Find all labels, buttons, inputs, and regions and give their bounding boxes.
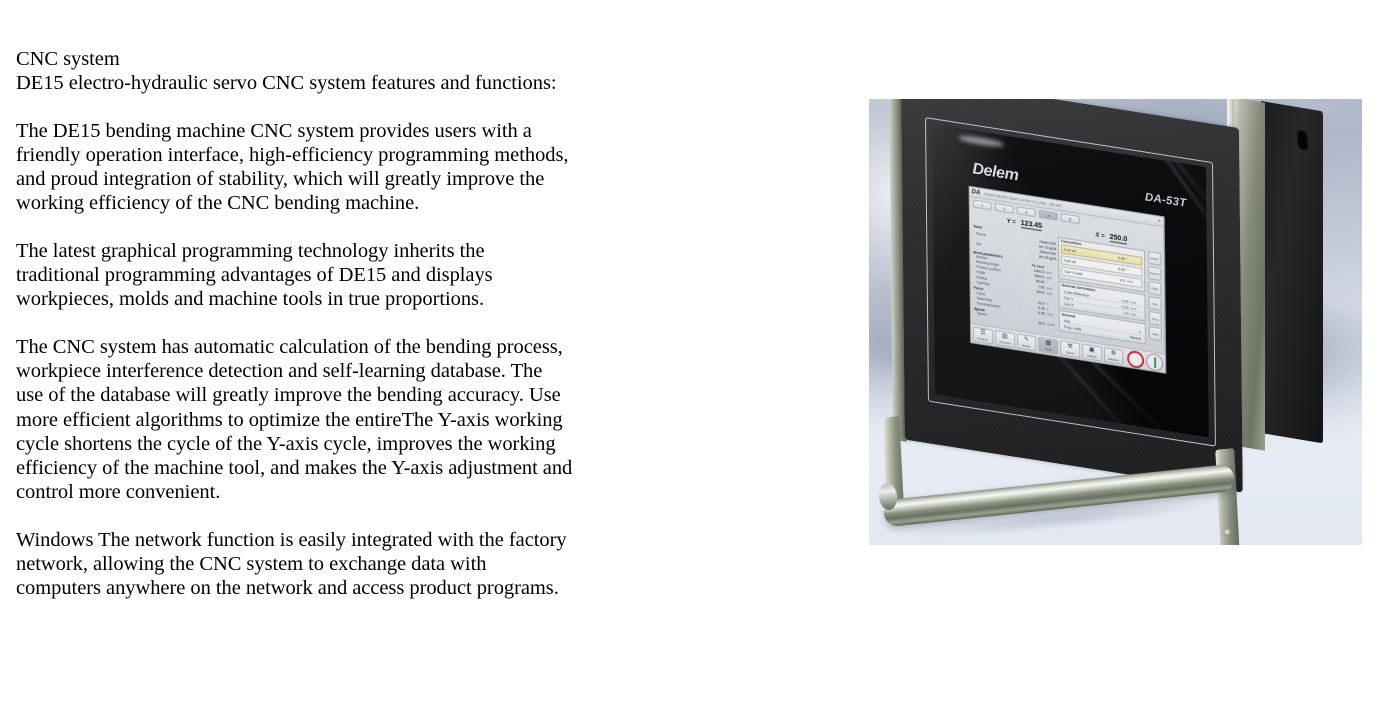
hmi-toolbar-button-machine[interactable]: ⚙ Machine	[1104, 346, 1124, 364]
hmi-side-button-column: Teach Search Data Del Prog Help	[1147, 251, 1163, 356]
article-heading-block: CNC system DE15 electro-hydraulic servo …	[16, 47, 846, 96]
hmi-tab-4[interactable]: 4	[1039, 210, 1058, 221]
hmi-toolbar-button-program[interactable]: ☰ Program	[973, 326, 993, 344]
stop-button[interactable]	[1127, 349, 1144, 369]
paragraph-3-line-1: The CNC system has automatic calculation…	[16, 335, 846, 359]
hmi-toolbar-button-tools[interactable]: ▦ Tools	[1038, 336, 1058, 354]
hmi-tab-2[interactable]: 2	[995, 203, 1014, 214]
paragraph-3-line-3: use of the database will greatly improve…	[16, 383, 846, 407]
hmi-parameter-column: Tools Punch : Delem 200 t/m 70 gr45 Die …	[972, 223, 1057, 338]
hmi-toolbar-label: Program	[978, 336, 989, 342]
model-label: DA-53T	[1145, 191, 1187, 210]
hmi-toolbar-label: Overview	[999, 339, 1011, 345]
bends-icon: ✎	[1024, 336, 1029, 343]
paragraph-3-line-2: workpiece interference detection and sel…	[16, 359, 846, 383]
cnc-controller-device: Delem DA-53T DA Delem DA-53T Touch Contr…	[869, 99, 1362, 545]
paragraph-3: The CNC system has automatic calculation…	[16, 335, 846, 505]
paragraph-4-line-1: Windows The network function is easily i…	[16, 528, 846, 552]
hmi-side-button-teach[interactable]: Teach	[1148, 251, 1161, 266]
paragraph-3-line-4: more efficient algorithms to optimize th…	[16, 408, 846, 432]
tools-icon: ▦	[1045, 339, 1051, 346]
hmi-logo: DA	[972, 189, 981, 196]
hmi-field-value: 0.0	[1101, 275, 1125, 283]
start-button[interactable]	[1146, 352, 1163, 372]
gear-icon: ⚙	[1111, 350, 1116, 357]
hmi-axis-x-label: X =	[1095, 233, 1104, 240]
brand-logo: Delem	[972, 160, 1018, 185]
hmi-tab-5[interactable]: 5	[1061, 213, 1080, 224]
paragraph-2: The latest graphical programming technol…	[16, 239, 846, 312]
hmi-field-value: 0.00	[1101, 264, 1125, 272]
glass-glint	[958, 134, 1004, 148]
device-touchscreen-glass: Delem DA-53T DA Delem DA-53T Touch Contr…	[932, 124, 1209, 437]
hmi-tab-1[interactable]: 1	[973, 199, 992, 210]
hmi-tab-3[interactable]: 3	[1017, 206, 1036, 217]
hmi-window[interactable]: DA Delem DA-53T Touch Control V1.2.8ex -…	[969, 186, 1167, 374]
hmi-toolbar-button-settings[interactable]: ▣ Settings	[1082, 343, 1102, 361]
paragraph-2-line-3: workpieces, molds and machine tools in t…	[16, 287, 846, 311]
hmi-field-value: 0.00	[1101, 253, 1125, 261]
hmi-field-name: Corr X-axis	[1064, 269, 1101, 279]
hmi-side-button-data[interactable]: Data	[1148, 281, 1161, 296]
paragraph-4: Windows The network function is easily i…	[16, 528, 846, 601]
hmi-param-unit: mm/s	[1045, 322, 1057, 329]
heading-line-1: CNC system	[16, 47, 846, 71]
paragraph-2-line-1: The latest graphical programming technol…	[16, 239, 846, 263]
paragraph-1-line-4: working efficiency of the CNC bending ma…	[16, 191, 846, 215]
mount-icon: ⚒	[1067, 343, 1072, 350]
close-icon[interactable]: ×	[1158, 218, 1162, 225]
hmi-side-button-prog[interactable]: Prog	[1149, 311, 1162, 326]
hmi-toolbar-label: Tools	[1045, 346, 1052, 351]
hmi-side-button-del[interactable]: Del	[1148, 296, 1161, 311]
start-bar-icon	[1154, 356, 1156, 367]
paragraph-3-line-6: efficiency of the machine tool, and make…	[16, 456, 846, 480]
hmi-field-name: Corr a1	[1064, 247, 1101, 257]
paragraph-4-line-2: network, allowing the CNC system to exch…	[16, 552, 846, 576]
hmi-side-button-search[interactable]: Search	[1148, 266, 1161, 281]
hmi-side-button-help[interactable]: Help	[1149, 326, 1162, 341]
overview-icon: ▤	[1002, 332, 1008, 339]
paragraph-2-line-2: traditional programming advantages of DE…	[16, 263, 846, 287]
hmi-corrections-column: Corrections Corr a1 0.00 ° Corr a2 0.00 …	[1058, 237, 1146, 353]
hmi-toolbar-button-mount[interactable]: ⚒ Mount	[1060, 340, 1080, 358]
paragraph-3-line-5: cycle shortens the cycle of the Y-axis c…	[16, 432, 846, 456]
hmi-field-unit: °	[1125, 257, 1139, 263]
hmi-toolbar-label: Settings	[1087, 353, 1097, 359]
article-text-column: CNC system DE15 electro-hydraulic servo …	[16, 47, 846, 601]
page-root: CNC system DE15 electro-hydraulic servo …	[0, 0, 1377, 714]
hmi-toolbar-label: Bends	[1023, 343, 1031, 348]
hmi-toolbar-label: Mount	[1066, 350, 1074, 355]
hmi-field-name: Corr a2	[1064, 258, 1101, 268]
heading-line-2: DE15 electro-hydraulic servo CNC system …	[16, 71, 846, 95]
hmi-toolbar-label: Machine	[1108, 356, 1119, 362]
paragraph-1-line-2: friendly operation interface, high-effic…	[16, 143, 846, 167]
program-icon: ☰	[980, 329, 985, 336]
hmi-param-unit	[1044, 268, 1056, 270]
hmi-field-unit: °	[1125, 268, 1139, 274]
paragraph-1-line-3: and proud integration of stability, whic…	[16, 167, 846, 191]
hmi-row-unit: mm	[1129, 311, 1141, 317]
hmi-field-unit: mm	[1125, 279, 1139, 285]
paragraph-1-line-1: The DE15 bending machine CNC system prov…	[16, 119, 846, 143]
product-photo: Delem DA-53T DA Delem DA-53T Touch Contr…	[869, 99, 1362, 545]
paragraph-1: The DE15 bending machine CNC system prov…	[16, 119, 846, 216]
paragraph-3-line-7: control more convenient.	[16, 480, 846, 504]
settings-icon: ▣	[1089, 346, 1095, 353]
hmi-toolbar-button-bends[interactable]: ✎ Bends	[1017, 333, 1037, 351]
hmi-axis-x-value[interactable]: 250.0	[1110, 234, 1128, 245]
stand-bracket-screw-icon	[1224, 529, 1231, 536]
hmi-axis-y-label: Y =	[1007, 219, 1016, 226]
device-side-panel	[1261, 101, 1323, 443]
hmi-toolbar-button-overview[interactable]: ▤ Overview	[995, 329, 1015, 347]
paragraph-4-line-3: computers anywhere on the network and ac…	[16, 576, 846, 600]
